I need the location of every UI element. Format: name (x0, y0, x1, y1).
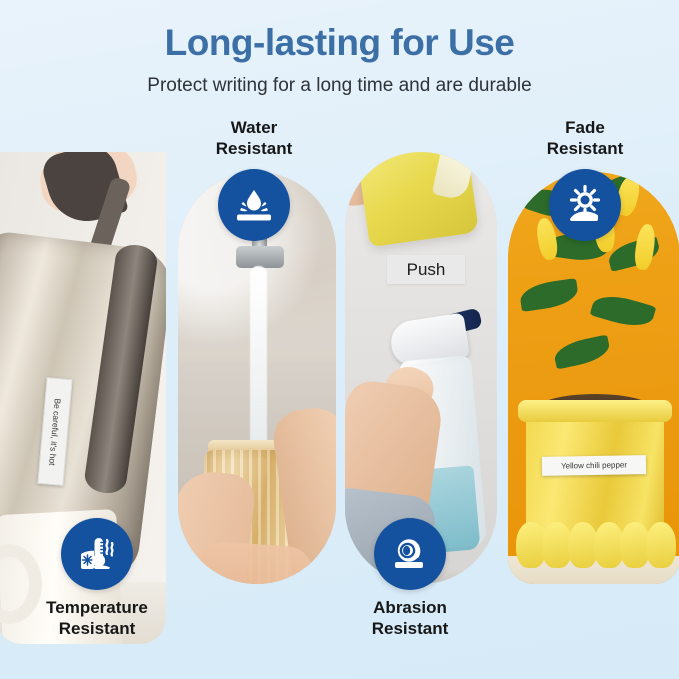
pot-label-text: Yellow chili pepper (561, 460, 627, 470)
chili-pepper (646, 522, 676, 568)
feature-water-resistant: Water Resistant (164, 118, 344, 241)
abrasion-resistant-badge[interactable] (374, 518, 446, 590)
push-sticker-label: Push (387, 255, 465, 284)
tape-roll-icon (388, 532, 432, 576)
feature-fade-resistant: Fade Resistant (495, 118, 675, 241)
temperature-resistant-badge[interactable] (61, 518, 133, 590)
faucet-head (236, 246, 284, 268)
fade-resistant-badge[interactable] (549, 169, 621, 241)
infographic-root: Long-lasting for Use Protect writing for… (0, 0, 679, 679)
feature-temperature-resistant: Temperature Resistant (7, 518, 187, 639)
header: Long-lasting for Use Protect writing for… (0, 0, 679, 97)
water-resistant-badge[interactable] (218, 169, 290, 241)
feature-label-line1: Water (164, 118, 344, 139)
feature-label-line1: Fade (495, 118, 675, 139)
feature-label-line1: Temperature (7, 598, 187, 619)
water-drop-splash-icon (232, 183, 276, 227)
leaf-shape (590, 290, 657, 332)
leaf-shape (552, 334, 612, 369)
sun-icon (563, 183, 607, 227)
fallen-peppers (516, 522, 678, 574)
page-title: Long-lasting for Use (0, 0, 679, 64)
feature-label-line2: Resistant (7, 619, 187, 640)
feature-label-line2: Resistant (320, 619, 500, 640)
feature-label-line1: Abrasion (320, 598, 500, 619)
thermometer-snowflake-heat-icon (75, 532, 119, 576)
pot-sticker-label: Yellow chili pepper (542, 455, 646, 476)
kettle-label-text: Be careful, it's hot (47, 398, 63, 466)
leaf-shape (518, 278, 579, 312)
feature-label: Abrasion Resistant (320, 598, 500, 639)
pot-rim (518, 400, 672, 422)
push-label-text: Push (407, 260, 446, 280)
feature-abrasion-resistant: Abrasion Resistant (320, 518, 500, 639)
feature-label: Water Resistant (164, 118, 344, 159)
feature-label-line2: Resistant (164, 139, 344, 160)
feature-label-line2: Resistant (495, 139, 675, 160)
feature-label: Fade Resistant (495, 118, 675, 159)
page-subtitle: Protect writing for a long time and are … (0, 64, 679, 97)
feature-label: Temperature Resistant (7, 598, 187, 639)
